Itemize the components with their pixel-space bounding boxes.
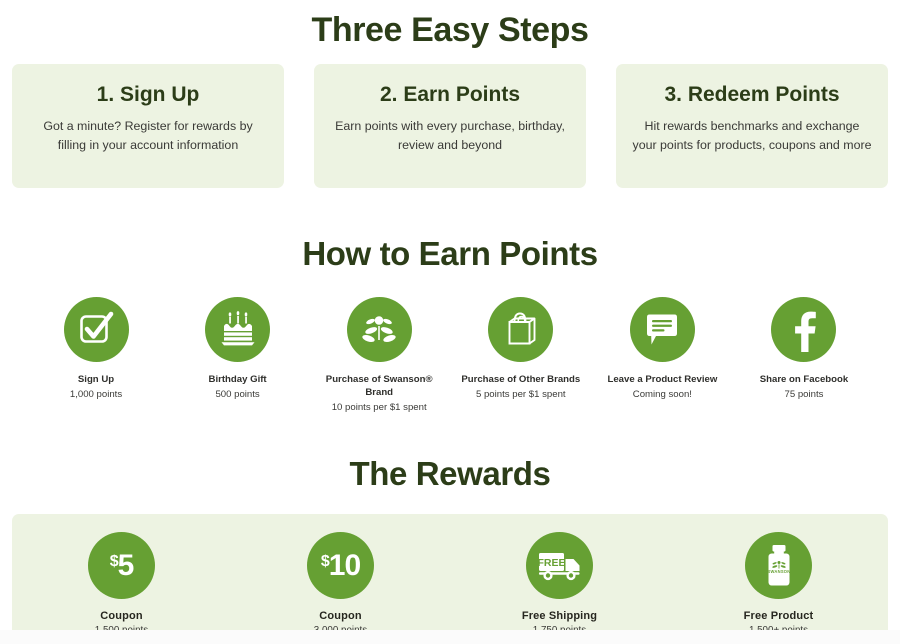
earn-item-share-facebook: Share on Facebook 75 points [738, 297, 870, 414]
dollar-sign: $ [110, 554, 118, 570]
earn-item-swanson-brand: Purchase of Swanson® Brand 10 points per… [313, 297, 445, 414]
swanson-leaf-logo-icon [358, 310, 400, 348]
earn-item-sign-up: Sign Up 1,000 points [30, 297, 162, 414]
step-card-sign-up: 1. Sign Up Got a minute? Register for re… [12, 64, 284, 188]
birthday-cake-icon [218, 309, 258, 349]
dollar-coupon-icon: $10 [321, 551, 360, 581]
earn-icon-circle [347, 297, 412, 362]
rewards-program-page: Three Easy Steps 1. Sign Up Got a minute… [0, 0, 900, 644]
step-card-description: Got a minute? Register for rewards by fi… [28, 117, 268, 155]
earn-item-points: 10 points per $1 spent [313, 401, 445, 414]
reward-item-coupon-10: $10 Coupon 3,000 points [266, 532, 416, 636]
speech-bubble-icon [642, 311, 682, 347]
facebook-icon [784, 306, 824, 352]
earn-item-points: 500 points [172, 388, 304, 401]
earn-item-label: Leave a Product Review [596, 374, 728, 387]
the-rewards-heading: The Rewards [0, 456, 900, 492]
bottle-brand-text: SWANSON [767, 569, 790, 574]
supplement-bottle-icon: SWANSON [762, 543, 796, 589]
reward-item-label: Free Shipping [485, 610, 635, 622]
reward-item-label: Free Product [704, 610, 854, 622]
earn-icon-circle [630, 297, 695, 362]
free-shipping-truck-icon: FREE [537, 549, 583, 583]
earn-icon-circle [488, 297, 553, 362]
coupon-amount-value: 5 [118, 551, 134, 581]
reward-icon-circle: FREE [526, 532, 593, 599]
earn-icon-circle [205, 297, 270, 362]
earn-item-birthday-gift: Birthday Gift 500 points [172, 297, 304, 414]
steps-row: 1. Sign Up Got a minute? Register for re… [0, 64, 900, 188]
rewards-panel: $5 Coupon 1,500 points $10 Coupon 3,000 … [12, 514, 888, 644]
earn-item-label: Sign Up [30, 374, 162, 387]
shopping-bag-icon [502, 309, 540, 349]
reward-item-label: Coupon [266, 610, 416, 622]
earn-item-points: Coming soon! [596, 388, 728, 401]
earn-item-points: 1,000 points [30, 388, 162, 401]
earn-item-label: Purchase of Swanson® Brand [313, 374, 445, 400]
earn-item-points: 75 points [738, 388, 870, 401]
three-easy-steps-heading: Three Easy Steps [0, 0, 900, 49]
earn-item-label: Share on Facebook [738, 374, 870, 387]
step-card-title: 3. Redeem Points [632, 82, 872, 107]
reward-item-label: Coupon [47, 610, 197, 622]
free-badge-text: FREE [537, 557, 565, 569]
reward-icon-circle: $10 [307, 532, 374, 599]
earn-item-product-review: Leave a Product Review Coming soon! [596, 297, 728, 414]
step-card-description: Hit rewards benchmarks and exchange your… [632, 117, 872, 155]
step-card-title: 1. Sign Up [28, 82, 268, 107]
earn-item-points: 5 points per $1 spent [455, 388, 587, 401]
reward-item-free-product: SWANSON Free Product 1,500+ points [704, 532, 854, 636]
earn-item-other-brands: Purchase of Other Brands 5 points per $1… [455, 297, 587, 414]
earn-icon-circle [64, 297, 129, 362]
reward-icon-circle: $5 [88, 532, 155, 599]
earn-icon-circle [771, 297, 836, 362]
step-card-redeem-points: 3. Redeem Points Hit rewards benchmarks … [616, 64, 888, 188]
dollar-sign: $ [321, 554, 329, 570]
earn-item-label: Purchase of Other Brands [455, 374, 587, 387]
reward-item-coupon-5: $5 Coupon 1,500 points [47, 532, 197, 636]
step-card-earn-points: 2. Earn Points Earn points with every pu… [314, 64, 586, 188]
step-card-title: 2. Earn Points [330, 82, 570, 107]
step-card-description: Earn points with every purchase, birthda… [330, 117, 570, 155]
page-bottom-strip [0, 630, 900, 644]
coupon-amount-value: 10 [329, 551, 360, 581]
dollar-coupon-icon: $5 [110, 551, 134, 581]
reward-icon-circle: SWANSON [745, 532, 812, 599]
how-to-earn-points-heading: How to Earn Points [0, 236, 900, 272]
reward-item-free-shipping: FREE Free Shipping 1,750 points [485, 532, 635, 636]
checkbox-check-icon [76, 309, 116, 349]
earn-points-row: Sign Up 1,000 points [0, 297, 900, 414]
earn-item-label: Birthday Gift [172, 374, 304, 387]
